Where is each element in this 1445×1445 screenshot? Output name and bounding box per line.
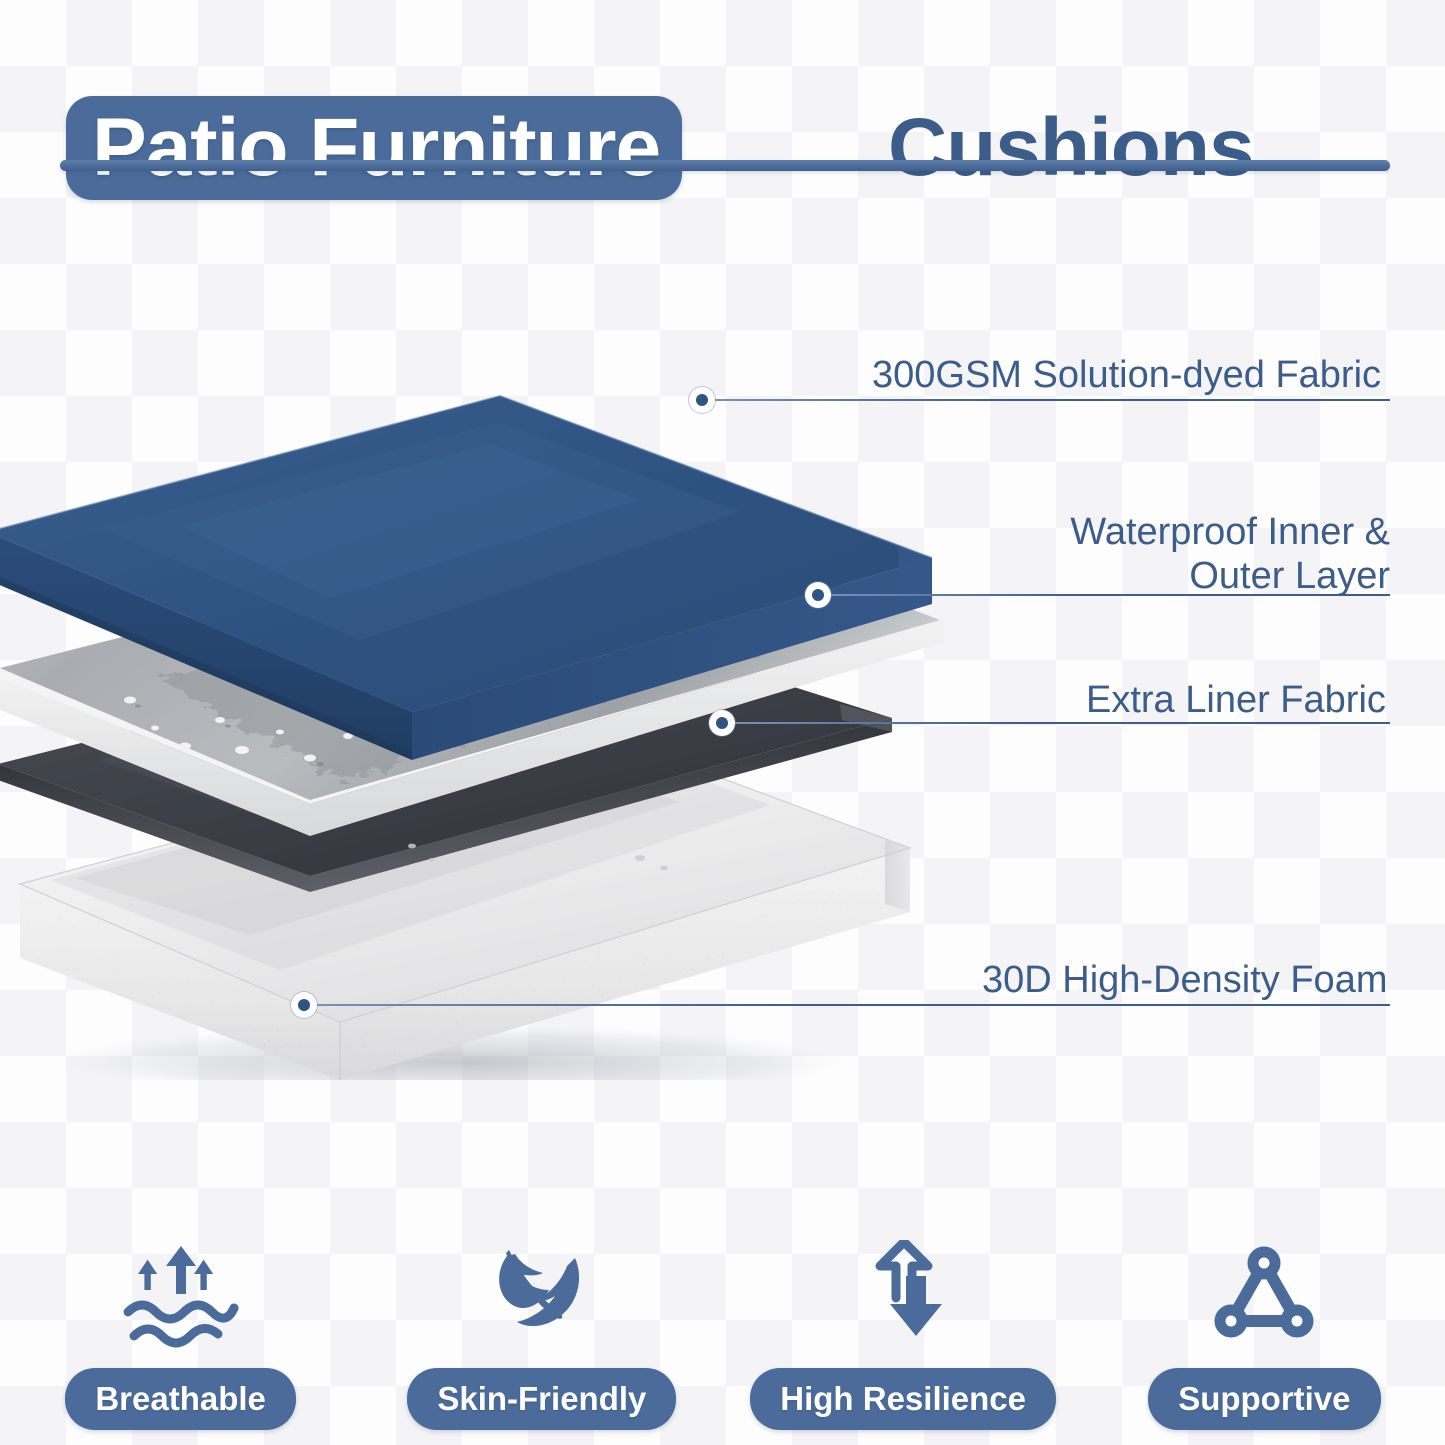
title-highlight-pill: Patio Furniture [66, 96, 682, 200]
triangle-nodes-icon [1205, 1240, 1323, 1352]
title-plain-wrap: Cushions [888, 96, 1254, 200]
feature-skin-friendly[interactable]: Skin-Friendly [361, 1215, 722, 1430]
feature-supportive[interactable]: Supportive [1084, 1215, 1445, 1430]
up-down-arrows-icon [840, 1240, 966, 1352]
title-highlight-text: Patio Furniture [92, 107, 660, 189]
callout-fabric-leader [702, 399, 1390, 401]
title-underline-bar [60, 160, 1390, 171]
breathable-waves-icon [118, 1240, 244, 1352]
feature-breathable[interactable]: Breathable [0, 1215, 361, 1430]
infographic-page: Patio Furniture Cushions [0, 0, 1445, 1445]
callout-fabric-label: 300GSM Solution-dyed Fabric [872, 353, 1381, 397]
title-plain-text: Cushions [888, 107, 1254, 189]
callout-liner-marker [709, 710, 735, 736]
feature-supportive-label: Supportive [1148, 1368, 1380, 1430]
feature-skin-friendly-label: Skin-Friendly [407, 1368, 676, 1430]
callout-liner-label: Extra Liner Fabric [1086, 678, 1386, 722]
callout-foam-label: 30D High-Density Foam [982, 958, 1387, 1002]
page-title: Patio Furniture Cushions [0, 46, 1445, 158]
callout-waterproof-marker [805, 582, 831, 608]
callout-foam-leader [304, 1004, 1390, 1006]
feature-high-resilience-label: High Resilience [750, 1368, 1056, 1430]
feather-icon [479, 1240, 605, 1352]
callout-waterproof-label-line2: Outer Layer [940, 554, 1390, 598]
callout-fabric-marker [689, 387, 715, 413]
feature-high-resilience[interactable]: High Resilience [723, 1215, 1084, 1430]
callout-foam-marker [291, 992, 317, 1018]
callout-waterproof-label-line1: Waterproof Inner & [940, 510, 1390, 554]
feature-breathable-label: Breathable [65, 1368, 296, 1430]
feature-badge-row: Breathable Skin-Friendly [0, 1215, 1445, 1430]
